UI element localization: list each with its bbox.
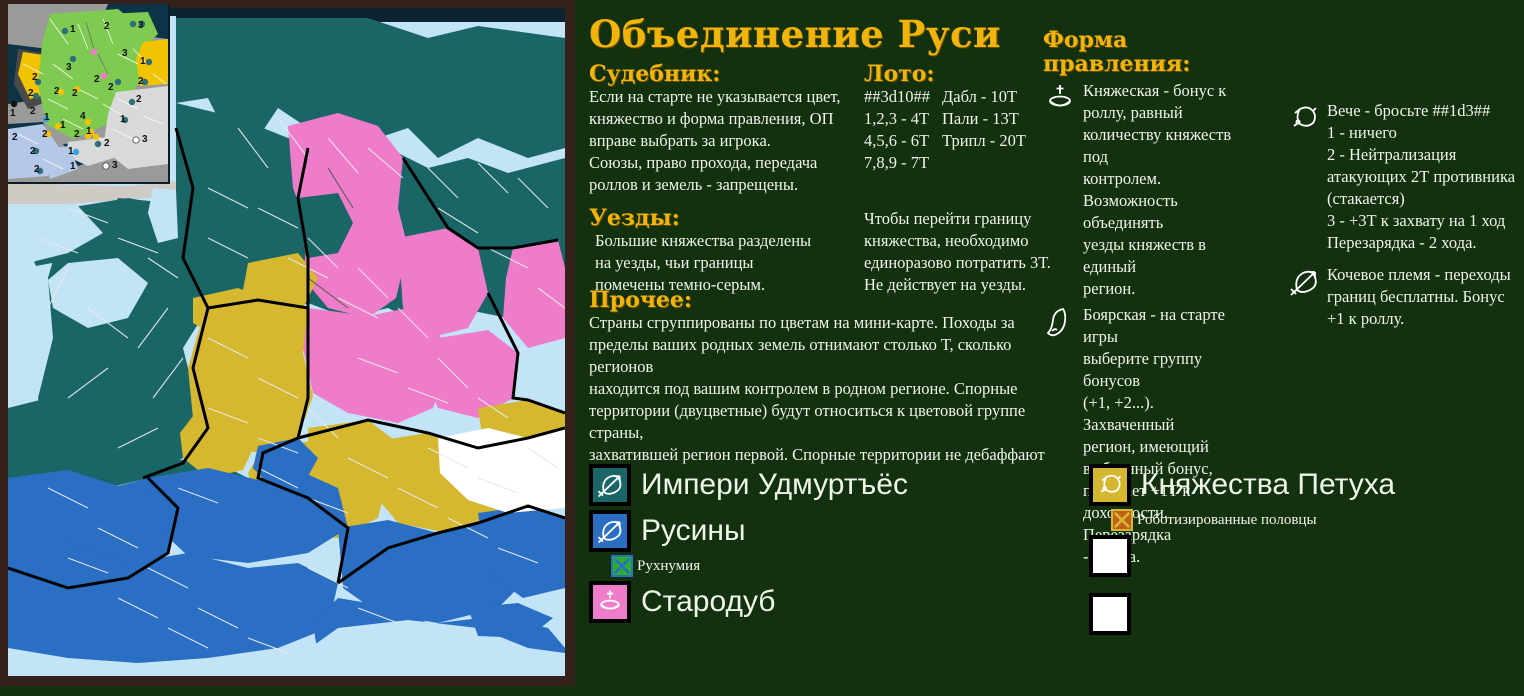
knyazheskaya-line: количеству княжеств под (1083, 124, 1243, 168)
knyazheskaya-line: Княжеская - бонус к (1083, 80, 1243, 102)
loto-cell: 4,5,6 - 6Т (864, 130, 942, 152)
prochee-line: Страны сгруппированы по цветам на мини-к… (589, 312, 1069, 334)
legend-item-udmurtyos[interactable]: Импери Удмуртъёс (589, 464, 1059, 506)
veche-line: Вече - бросьте ##1d3## (1327, 100, 1522, 122)
map-panel: 1 2 3 1 3 3 2 2 2 2 2 2 2 1 2 1 1 4 2 (0, 0, 575, 686)
section-uezdy: Уезды: Большие княжества разделены на уе… (589, 206, 889, 296)
uezdy-line: на уезды, чьи границы (595, 252, 889, 274)
legend-subitem-ruhnumiya[interactable]: Рухнумия (611, 555, 1059, 577)
legend-label: Стародуб (641, 586, 776, 618)
forma-item-kochevoe: Кочевое племя - переходы границ бесплатн… (1287, 264, 1522, 330)
legend-item-empty-1[interactable] (1089, 535, 1509, 577)
boyarskaya-line: Боярская - на старте игры (1083, 304, 1243, 348)
minimap-svg: 1 2 3 1 3 3 2 2 2 2 2 2 2 1 2 1 1 4 2 (8, 4, 168, 182)
scroll-icon (1043, 305, 1077, 339)
veche-line: Перезарядка - 2 хода. (1327, 232, 1522, 254)
sudebnik-line: Союзы, право прохода, передача (589, 152, 869, 174)
svg-text:2: 2 (12, 132, 18, 143)
bell-icon (1095, 470, 1125, 500)
svg-text:2: 2 (30, 146, 36, 157)
kochevoe-body: Кочевое племя - переходы границ бесплатн… (1327, 264, 1522, 330)
svg-text:4: 4 (80, 111, 86, 122)
legend-sub-label: Роботизированные половцы (1137, 512, 1317, 529)
page-title: Объединение Руси (589, 14, 1001, 54)
legend-right: Княжества Петуха Роботизированные половц… (1089, 464, 1509, 651)
loto-row: 1,2,3 - 4Т Пали - 13Т (864, 108, 1038, 130)
section-sudebnik: Судебник: Если на старте не указывается … (589, 62, 869, 196)
svg-text:1: 1 (68, 146, 74, 157)
knyazheskaya-body: Княжеская - бонус к роллу, равный количе… (1083, 80, 1243, 300)
legend-swatch (1089, 464, 1131, 506)
svg-text:3: 3 (122, 48, 128, 59)
sudebnik-line: княжество и форма правления, ОП (589, 108, 869, 130)
legend-swatch (589, 464, 631, 506)
loto-cell: ##3d10## (864, 86, 942, 108)
svg-text:2: 2 (74, 129, 80, 140)
veche-line: 3 - +3Т к захвату на 1 ход (1327, 210, 1522, 232)
svg-text:2: 2 (32, 72, 38, 83)
prochee-body: Страны сгруппированы по цветам на мини-к… (589, 312, 1069, 488)
boyarskaya-line: выберите группу бонусов (1083, 348, 1243, 392)
boyarskaya-line: (+1, +2...). Захваченный (1083, 392, 1243, 436)
uezdy-heading: Уезды: (589, 206, 889, 230)
legend-label: Русины (641, 515, 746, 547)
rules-panel: Объединение Руси Судебник: Если на старт… (575, 0, 1524, 696)
legend-swatch (589, 510, 631, 552)
boyarskaya-line: регион, имеющий (1083, 436, 1243, 458)
section-prochee: Прочее: Страны сгруппированы по цветам н… (589, 288, 1069, 488)
loto-cell: Пали - 13Т (942, 108, 1038, 130)
legend-item-rusiny[interactable]: Русины (589, 510, 1059, 552)
minimap[interactable]: 1 2 3 1 3 3 2 2 2 2 2 2 2 1 2 1 1 4 2 (8, 4, 170, 184)
bow-icon (595, 470, 625, 500)
bow-icon (595, 516, 625, 546)
svg-text:2: 2 (108, 82, 114, 93)
svg-text:1: 1 (44, 112, 50, 123)
loto-note-line: княжества, необходимо (864, 230, 1054, 252)
legend-sub-swatch (611, 555, 633, 577)
legend-swatch (1089, 593, 1131, 635)
sudebnik-line: роллов и земель - запрещены. (589, 174, 869, 196)
svg-text:3: 3 (66, 62, 72, 73)
svg-text:3: 3 (138, 20, 144, 31)
legend-subitem-polovcy[interactable]: Роботизированные половцы (1111, 509, 1509, 531)
section-loto: Лото: ##3d10## Дабл - 10Т 1,2,3 - 4Т Пал… (864, 62, 1054, 174)
veche-line: атакующих 2Т противника (1327, 166, 1522, 188)
svg-text:2: 2 (138, 76, 144, 87)
loto-cell: 1,2,3 - 4Т (864, 108, 942, 130)
section-forma-pravleniya-col2: Вече - бросьте ##1d3## 1 - ничего 2 - Не… (1287, 100, 1522, 334)
svg-text:2: 2 (42, 129, 48, 140)
loto-cell: Дабл - 10Т (942, 86, 1038, 108)
sudebnik-line: вправе выбрать за игрока. (589, 130, 869, 152)
veche-line: (стакается) (1327, 188, 1522, 210)
svg-text:2: 2 (104, 138, 110, 149)
kochevoe-line: Кочевое племя - переходы (1327, 264, 1522, 286)
svg-text:2: 2 (30, 106, 36, 117)
forma-item-veche: Вече - бросьте ##1d3## 1 - ничего 2 - Не… (1287, 100, 1522, 254)
svg-text:3: 3 (112, 160, 118, 171)
x-mark-icon (613, 557, 631, 575)
legend-label: Княжества Петуха (1141, 469, 1395, 501)
knyazheskaya-line: Возможность объединять (1083, 190, 1243, 234)
loto-row: 7,8,9 - 7Т (864, 152, 1038, 174)
prochee-line: захватившей регион первой. Спорные терри… (589, 444, 1069, 466)
svg-text:1: 1 (86, 126, 92, 137)
loto-cell: Трипл - 20Т (942, 130, 1038, 152)
knyazheskaya-line: уезды княжеств в единый (1083, 234, 1243, 278)
uezdy-line: Большие княжества разделены (595, 230, 889, 252)
prochee-line: находится под вашим контролем в родном р… (589, 378, 1069, 400)
prochee-line: территории (двуцветные) будут относиться… (589, 400, 1069, 444)
page-title-text: Объединение Руси (589, 12, 1001, 56)
svg-text:2: 2 (136, 94, 142, 105)
bow-icon (1287, 265, 1321, 299)
legend-sub-swatch (1111, 509, 1133, 531)
veche-line: 1 - ничего (1327, 122, 1522, 144)
svg-text:2: 2 (104, 21, 110, 32)
knyazheskaya-line: роллу, равный (1083, 102, 1243, 124)
forma-heading-line1: Форма (1043, 28, 1243, 52)
loto-row: 4,5,6 - 6Т Трипл - 20Т (864, 130, 1038, 152)
knyazheskaya-line: контролем. (1083, 168, 1243, 190)
svg-text:1: 1 (70, 161, 76, 172)
sudebnik-body: Если на старте не указывается цвет, княж… (589, 86, 869, 196)
svg-text:2: 2 (28, 88, 34, 99)
svg-text:2: 2 (72, 88, 78, 99)
legend-label: Импери Удмуртъёс (641, 469, 908, 501)
bell-icon (1287, 101, 1321, 135)
veche-body: Вече - бросьте ##1d3## 1 - ничего 2 - Не… (1327, 100, 1522, 254)
kochevoe-line: границ бесплатны. Бонус (1327, 286, 1522, 308)
legend-item-empty-2[interactable] (1089, 593, 1509, 635)
legend-swatch (1089, 535, 1131, 577)
loto-row: ##3d10## Дабл - 10Т (864, 86, 1038, 108)
loto-note-line: Чтобы перейти границу (864, 208, 1054, 230)
sudebnik-line: Если на старте не указывается цвет, (589, 86, 869, 108)
crown-icon (595, 587, 625, 617)
svg-text:1: 1 (60, 120, 66, 131)
svg-text:2: 2 (34, 164, 40, 175)
legend-item-starodub[interactable]: Стародуб (589, 581, 1059, 623)
loto-heading: Лото: (864, 62, 1054, 86)
legend-left: Импери Удмуртъёс Русины Рухнумия (589, 464, 1059, 627)
legend-sub-label: Рухнумия (637, 558, 700, 575)
crown-icon (1043, 81, 1077, 115)
svg-text:3: 3 (142, 134, 148, 145)
veche-line: 2 - Нейтрализация (1327, 144, 1522, 166)
loto-note-line: единоразово потратить 3Т. (864, 252, 1054, 274)
sudebnik-heading: Судебник: (589, 62, 869, 86)
x-mark-icon (1113, 511, 1131, 529)
svg-text:1: 1 (120, 114, 126, 125)
loto-cell: 7,8,9 - 7Т (864, 152, 942, 174)
loto-cell (942, 152, 1038, 174)
svg-text:2: 2 (94, 74, 100, 85)
forma-item-knyazheskaya: Княжеская - бонус к роллу, равный количе… (1043, 80, 1243, 300)
prochee-line: пределы ваших родных земель отнимают сто… (589, 334, 1069, 378)
kochevoe-line: +1 к роллу. (1327, 308, 1522, 330)
svg-text:1: 1 (10, 108, 16, 119)
legend-item-petuha[interactable]: Княжества Петуха (1089, 464, 1509, 506)
svg-text:1: 1 (70, 24, 76, 35)
legend-swatch (589, 581, 631, 623)
loto-note-line: Не действует на уезды. (864, 274, 1054, 296)
loto-note: Чтобы перейти границу княжества, необход… (864, 208, 1054, 296)
loto-table: ##3d10## Дабл - 10Т 1,2,3 - 4Т Пали - 13… (864, 86, 1038, 174)
svg-text:1: 1 (140, 56, 146, 67)
knyazheskaya-line: регион. (1083, 278, 1243, 300)
forma-heading-line2: правления: (1043, 52, 1243, 76)
